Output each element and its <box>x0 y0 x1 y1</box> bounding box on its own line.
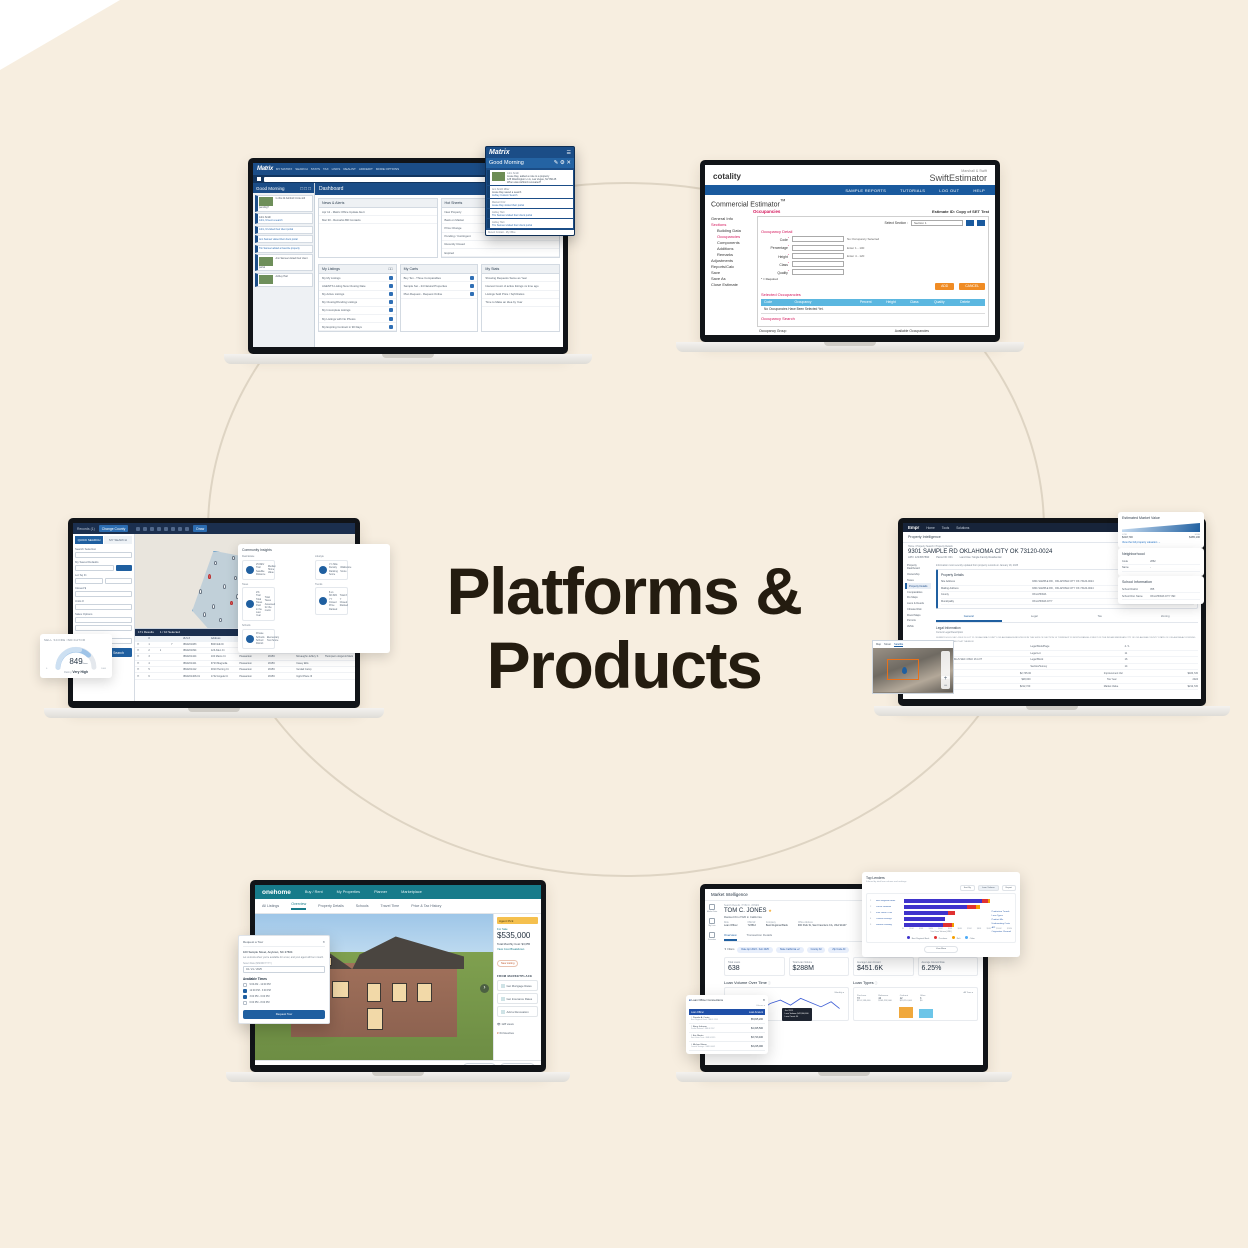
form-buttons: ADD CANCEL <box>761 283 985 290</box>
chart-tooltip: Jun 2024 Loan Volume: $42,300,000 Loan C… <box>782 1008 812 1021</box>
required-note: * = Required <box>761 277 985 281</box>
go-button[interactable] <box>116 565 132 571</box>
popup-header-text: Good Morning <box>489 160 524 166</box>
card-title: My Stats <box>485 267 499 271</box>
cotality-header: cotality Marshall & Swift SwiftEstimator <box>705 165 995 185</box>
matrix-logo: Matrix <box>257 166 273 172</box>
insight-card[interactable]: Private SchoolsSchool District Elementar… <box>242 629 275 649</box>
renovation-icon <box>501 1010 505 1014</box>
info-icon[interactable]: ⓘ <box>768 982 771 985</box>
corner-decoration <box>0 0 120 70</box>
tab-tax[interactable]: Tax <box>1067 612 1133 622</box>
insight-card[interactable]: V 1 MileDensity Ranking Score Walkscore … <box>315 560 348 580</box>
field-label: Height <box>778 255 788 259</box>
map-toolbar[interactable] <box>136 527 189 531</box>
tab-property-details[interactable]: Property Details <box>318 904 344 908</box>
col-quality: Quality <box>934 300 960 304</box>
matrix-nav-item[interactable]: MY MATRIX <box>276 167 292 171</box>
matrix-nav-item[interactable]: LINKS <box>332 167 341 171</box>
loan-types-chart[interactable]: All Time ▾ Purchase73$151,133,000 Refina… <box>853 987 978 1021</box>
insight-group: Taxes <box>242 583 312 586</box>
top-lenders-title: Top Lenders <box>866 876 1016 880</box>
modal-titlebar: Request a Tour ✕ <box>243 940 325 947</box>
class-select[interactable] <box>792 261 844 267</box>
card-row[interactable]: Expired <box>442 249 560 257</box>
legal-title: Legal Information <box>936 626 1198 630</box>
checkbox[interactable] <box>243 1001 247 1005</box>
card-row[interactable]: My Incomplete Listings <box>319 307 396 315</box>
card-row[interactable]: AGENTS Listing New Closing Date <box>319 282 396 290</box>
matrix-panel-header: Good Morning □ □ □ <box>253 183 314 193</box>
search-selection-select[interactable] <box>75 552 132 558</box>
stat-avg-amount: Average Loan Amount$451.6K <box>853 957 914 976</box>
lo-row[interactable]: 4 Michael StoneCoastal Savings - NMLS 44… <box>689 1042 765 1051</box>
sort-by-select[interactable]: Loan Volume <box>978 885 999 891</box>
tab-general[interactable]: General <box>936 612 1002 622</box>
time-option[interactable]: 3:00 PM - 6:00 PM <box>243 995 325 999</box>
nav-marketplace[interactable]: Marketplace <box>401 890 422 894</box>
field-label: Quality <box>777 271 788 275</box>
tab-all-listings[interactable]: All Listings <box>262 904 279 908</box>
view-virtual-tour-button[interactable]: View Virtual Tour <box>463 1063 496 1065</box>
tab-my-search[interactable]: MY SEARCH <box>104 536 132 544</box>
card-title: Estimated Market Value <box>1122 516 1200 520</box>
matrix-message[interactable]: Tim Samuel added a Favorite property <box>255 245 313 253</box>
height-input[interactable] <box>792 253 844 259</box>
results-count: 171 Results <box>138 630 154 634</box>
request-tour-modal[interactable]: Request a Tour ✕ 100 Sample Street, Anyt… <box>238 935 330 1024</box>
propintel-page-title: Property Intelligence <box>908 535 941 539</box>
rail-favorites[interactable]: Favorites <box>705 932 719 941</box>
stat-cards: Total Loans638 Total Loan Volume$288M Av… <box>724 957 978 976</box>
tab-overview[interactable]: Overview <box>291 902 306 910</box>
card-title: News & Alerts <box>322 201 344 205</box>
field-row-percentage: Percentage* Enter 1 - 100 <box>761 244 985 250</box>
propintel-side-cards: Estimated Market Value LOW$218,700 HIGH$… <box>1118 512 1204 604</box>
laptop-base <box>874 706 1230 716</box>
insight-card[interactable]: $ vs 38.49%YY Closed Price Ranked Total … <box>315 587 348 614</box>
view-all-photos-button[interactable]: View All 38 Photos <box>500 1063 535 1065</box>
matrix-row-2: My Listings□□ My My Listings AGENTS List… <box>315 261 563 335</box>
cost-breakdown-link[interactable]: View Cost Breakdown <box>497 947 538 951</box>
school-name-row: School Dist. NameOKLAHOMA CITY ISD <box>1122 593 1200 600</box>
matrix-panel-title: Good Morning <box>256 186 285 191</box>
matrix-message[interactable]: Ann Samuel visited their client portal <box>255 235 313 243</box>
card-title: Hot Sheets <box>445 201 463 205</box>
panel-title: Loan Volume Over Time ⓘ <box>724 980 849 985</box>
section-next-button[interactable] <box>977 220 985 226</box>
checkbox[interactable] <box>243 989 247 993</box>
sidebar-item-avms[interactable]: AVMs <box>905 624 931 630</box>
time-option[interactable]: 9:00 AM - 12:00 PM <box>243 983 325 987</box>
tab-satellite[interactable]: Satellite <box>894 643 903 647</box>
onehome-sidebar: Agent Pick For Sale $535,000 Total Month… <box>493 914 541 1060</box>
nav-tutorials[interactable]: TUTORIALS <box>900 188 925 193</box>
marketintel-title: Market Intelligence <box>711 892 748 897</box>
lot-sqft-max[interactable] <box>105 578 133 584</box>
available-times-title: Available Times <box>243 977 325 981</box>
section-prev-button[interactable] <box>966 220 974 226</box>
occupancy-search-label: Occupancy Search <box>761 316 985 321</box>
popup-footer: Recent Contact - My Office <box>486 230 574 235</box>
popup-item-text: Jesse Day visited their portal <box>492 204 524 207</box>
field-row-height: Height* Enter 4 - 120 <box>761 253 985 259</box>
laptop-base <box>44 708 384 718</box>
chart-menu[interactable]: All Time ▾ <box>964 991 973 994</box>
card-row[interactable]: Apr 12 - Matrix Office Update Alert <box>319 208 437 216</box>
loan-officer-connections-panel: ■ Loan Officer Connections ✕ Volume ▾ Lo… <box>686 995 768 1054</box>
measure-icon[interactable] <box>178 527 182 531</box>
quality-select[interactable] <box>792 269 844 275</box>
tab-price-tax-history[interactable]: Price & Tax History <box>411 904 441 908</box>
popup-item[interactable]: Ashley Hart Tim Samuel visited their cli… <box>487 219 573 228</box>
matrix-card-mylistings: My Listings□□ My My Listings AGENTS List… <box>318 264 397 332</box>
agent-pick-badge: Agent Pick <box>497 917 538 924</box>
tab-change-county[interactable]: Change County <box>99 525 129 532</box>
monthly-cost: Total Monthly Cost: $3,055 <box>497 942 538 946</box>
stat-avg-rate: Average Interest Rate6.25% <box>918 957 979 976</box>
detail-tabs[interactable]: General Legal Tax Zoning <box>936 612 1198 623</box>
matrix-nav-item[interactable]: TAX <box>323 167 329 171</box>
tab-schools[interactable]: Schools <box>356 904 369 908</box>
add-button[interactable]: ADD <box>935 283 954 290</box>
code-input[interactable] <box>792 236 844 242</box>
info-icon[interactable]: ⓘ <box>875 982 878 985</box>
emv-high-value: $285,100 <box>1189 536 1200 539</box>
modal-body-text: Let us know when you're available for a … <box>243 956 325 960</box>
sell-score-card: SELL SCORE INDICATOR 849 0 1000 Rating V… <box>40 634 112 678</box>
matrix-nav-item[interactable]: REALIST <box>343 167 356 171</box>
cotality-sidebar[interactable]: General Info Sections Building Data Occu… <box>711 216 753 327</box>
col-mls: MLS # <box>183 637 211 640</box>
cotality-screen: cotality Marshall & Swift SwiftEstimator… <box>705 165 995 335</box>
sales-options-select[interactable] <box>75 617 132 623</box>
onehome-topbar: onehome Buy / Rent My Properties Planner… <box>255 885 541 899</box>
draw-button[interactable]: Draw <box>193 525 207 532</box>
onehome-tabs[interactable]: All Listings Overview Property Details S… <box>255 899 541 914</box>
top-lenders-chart[interactable]: 1 Best Regional Bank 2 Pacific National … <box>866 893 1016 943</box>
matrix-notification-popup[interactable]: Matrix ☰ Good Morning ✎ ⚙ ✕ John Smith J… <box>485 146 575 236</box>
matrix-nav[interactable]: MY MATRIX SEARCH STATS TAX LINKS REALIST… <box>276 167 399 171</box>
card-row[interactable]: Plan Request - Request Online <box>401 291 478 299</box>
street-view-tabs[interactable]: Map Street Satellite <box>873 641 953 648</box>
popup-item[interactable]: John Smith Jesse Day, added a note to a … <box>487 170 573 185</box>
sidebar-item-dashboard[interactable]: Property Dashboard <box>905 563 931 572</box>
mapsearch-topbar: Records (1) Change County Draw <box>73 523 355 534</box>
help-icon[interactable] <box>157 527 161 531</box>
insights-grid: Real Estate 25 REV TrailSatellite Distan… <box>242 555 386 649</box>
col-percent: Percent <box>860 300 886 304</box>
school-icon <box>246 635 254 643</box>
aerial-image[interactable]: +− <box>873 648 953 692</box>
select-icon[interactable] <box>136 527 140 531</box>
matrix-message-text: Tim Samuel added a Favorite property <box>259 247 310 250</box>
card-row[interactable]: My My Listings <box>319 274 396 282</box>
filter-label: My Saved Defaults <box>75 560 132 564</box>
lender-row[interactable]: 1 Best Regional Bank <box>870 899 1012 903</box>
thumbnail-image <box>259 275 273 284</box>
link-origination-channel[interactable]: Origination Channel <box>992 930 1011 934</box>
legal-subtitle: Current Legal Description <box>936 631 1198 634</box>
community-insights-card: Community Insights Real Estate 25 REV Tr… <box>238 544 390 653</box>
laptop-cotality: cotality Marshall & Swift SwiftEstimator… <box>700 160 1000 352</box>
tab-legal[interactable]: Legal <box>1002 612 1068 622</box>
tab-travel-time[interactable]: Travel Time <box>381 904 400 908</box>
school-district-row: School District055 <box>1122 587 1200 594</box>
new-listing-badge: New Listing <box>497 960 518 967</box>
view-more-button[interactable]: View More <box>924 946 958 953</box>
units-input[interactable] <box>75 604 132 610</box>
card-controls[interactable]: □□ <box>388 267 392 271</box>
rail-my-lists[interactable]: My Lists <box>705 918 719 927</box>
tax-row: Land Value$28,000Tax Year2024 <box>936 677 1198 684</box>
saved-defaults-select[interactable] <box>75 565 114 571</box>
marketplace-item-mortgage[interactable]: Get Mortgage Rates <box>497 980 538 991</box>
sidebar-close-estimate[interactable]: Close Estimate <box>711 282 753 288</box>
loan-types-legend: Purchase73$151,133,000 Refinance44$105,2… <box>857 995 974 1002</box>
tab-zoning[interactable]: Zoning <box>1133 612 1199 622</box>
select-section-dropdown[interactable]: Section 1 <box>911 220 963 226</box>
legal-row: Section/Survey14 <box>936 664 1198 671</box>
section-label: Occupancies <box>753 209 780 214</box>
nav-buy-rent[interactable]: Buy / Rent <box>305 890 323 894</box>
draw-icon[interactable] <box>143 527 147 531</box>
propintel-logo: Empr <box>908 525 919 530</box>
card-row[interactable]: Mar 30 - Remarks Bill Contacts <box>319 216 437 224</box>
filter-tabs[interactable]: QUICK SEARCH MY SEARCH <box>75 536 132 544</box>
gauge-min: 0 <box>46 668 47 670</box>
nav-logout[interactable]: LOG OUT <box>939 188 959 193</box>
occupancy-table-empty: No Occupancies Have Been Selected Yet. <box>761 306 985 314</box>
popup-item-link[interactable]: Ashley Custom Search <box>492 194 521 197</box>
nav-planner[interactable]: Planner <box>374 890 387 894</box>
nav-tools[interactable]: Tools <box>942 526 949 530</box>
matrix-message[interactable]: Is this 22 Ashford Circle still pending? <box>255 195 313 212</box>
checkbox[interactable] <box>243 983 247 987</box>
chip-date[interactable]: Date Apr 2023 - Feb 2025 <box>737 947 773 953</box>
legal-row: THE SURREY HILLS SEC 4 BLK 16 LOTLegal B… <box>936 657 1198 664</box>
lo-sort-control[interactable]: Volume ▾ <box>689 1004 765 1007</box>
tax-row: Assessed Value$212,720Market Value$212,7… <box>936 684 1198 691</box>
meta-parcel: Parcel ID: 001 <box>936 556 952 559</box>
time-option[interactable]: 12:00 PM - 3:00 PM <box>243 989 325 993</box>
star-icon[interactable]: ★ <box>768 908 772 913</box>
nb-name-row: Name- <box>1122 565 1200 572</box>
occupancy-group-label: Occupancy Group <box>759 329 786 333</box>
popup-item-text: Tim Samuel visited their client portal <box>492 224 532 227</box>
select-section-row: Select Section : Section 1 <box>761 220 985 226</box>
matrix-nav-item[interactable]: MORE OPTIONS <box>376 167 399 171</box>
card-row[interactable]: Listings Sold Price / Sqft Ratios <box>482 291 559 299</box>
lot-sqft-min[interactable] <box>75 578 103 584</box>
chart-menu[interactable]: Monthly ▾ <box>835 991 844 994</box>
sell-score-gauge: 849 0 1000 <box>44 644 108 670</box>
cotality-footer: Occupancy Group Available Occupancies <box>705 327 995 335</box>
popup-item[interactable]: Ann Smith Miller Jesse Day saved a searc… <box>487 186 573 198</box>
meta-apn: APN: 1234567890 <box>908 556 929 559</box>
extra-filter-1[interactable] <box>75 625 132 631</box>
filter-label: Sales Options <box>75 612 132 616</box>
laptop-base <box>226 1072 570 1082</box>
matrix-panel-controls[interactable]: □ □ □ <box>300 186 311 191</box>
legal-row: SubdivisionLegal Book/Page4 / 1 <box>936 644 1198 651</box>
tab-street[interactable]: Street <box>884 643 891 647</box>
close-icon[interactable]: ✕ <box>763 998 765 1002</box>
card-row[interactable]: Interest Count of active listings vs tim… <box>482 282 559 290</box>
cotality-product: Marshall & Swift SwiftEstimator <box>929 169 987 183</box>
insight-group: Lifestyle <box>315 555 385 558</box>
emv-range-values: LOW$218,700 HIGH$285,100 <box>1122 534 1200 539</box>
estimate-id: Estimate ID: Copy of SET Test <box>932 209 989 214</box>
nav-home[interactable]: Home <box>926 526 935 530</box>
loan-types-bars <box>854 1006 977 1018</box>
thumbnail-image <box>259 197 273 206</box>
card-row[interactable]: Recently Closed <box>442 241 560 249</box>
matrix-nav-item[interactable]: SEARCH <box>295 167 308 171</box>
tab-transaction-details[interactable]: Transaction Details <box>747 931 773 941</box>
lo-row[interactable]: 2 Rony JohnsonPacific National - NMLS 22… <box>689 1024 765 1033</box>
next-photo-button[interactable]: › <box>480 984 489 993</box>
matrix-card-news: News & Alerts Apr 12 - Matrix Office Upd… <box>318 198 438 258</box>
tab-map[interactable]: Map <box>876 643 881 647</box>
search-icon <box>257 177 261 181</box>
school-information-card: School Information School District055 Sc… <box>1118 576 1204 604</box>
marker-icon[interactable] <box>171 527 175 531</box>
mortgage-icon <box>501 984 505 988</box>
rail-market-data[interactable]: Market Data <box>705 904 719 913</box>
field-hint: Enter 1 - 100 <box>847 246 864 250</box>
popup-item-text: Tim Samuel visited their client portal <box>492 214 532 217</box>
available-occupancies-label: Available Occupancies <box>895 329 929 333</box>
chip-zip[interactable]: Zip Code All <box>828 947 849 953</box>
card-row[interactable]: Time to Make an Idea by Year <box>482 299 559 307</box>
lo-row[interactable]: 1 Pamela A. CarterBest Regional Bank - N… <box>689 1015 765 1024</box>
matrix-message[interactable]: John, M visited their client portal <box>255 226 313 234</box>
cotality-nav[interactable]: SAMPLE REPORTS TUTORIALS LOG OUT HELP <box>705 185 995 195</box>
lo-panel-title: ■ Loan Officer Connections ✕ <box>689 998 765 1002</box>
insight-card[interactable]: 25 REV TrailSatellite Distance Median Ho… <box>242 560 275 580</box>
stat-total-loans: Total Loans638 <box>724 957 785 976</box>
card-row[interactable]: Sample Set - 24 Natural Properties <box>401 282 478 290</box>
filter-label: Closed $ <box>75 586 132 590</box>
cotality-main: General Info Sections Building Data Occu… <box>705 216 995 327</box>
cotality-form: Select Section : Section 1 Occupancy Det… <box>757 216 989 327</box>
view-count: 👁 128 views <box>497 1022 538 1026</box>
sell-score-title: SELL SCORE INDICATOR <box>44 638 108 642</box>
checkbox[interactable] <box>243 995 247 999</box>
tab-overview[interactable]: Overview <box>724 931 737 941</box>
lo-row[interactable]: 3 Eric MartinFirst Union Trust - NMLS 33… <box>689 1033 765 1042</box>
export-button[interactable]: Export <box>1002 885 1016 891</box>
col-address: Address <box>211 637 239 640</box>
closed-price-input[interactable] <box>75 591 132 597</box>
request-tour-button[interactable]: Request Tour <box>243 1010 325 1019</box>
cancel-button[interactable]: CANCEL <box>959 283 985 290</box>
tab-quick-search[interactable]: QUICK SEARCH <box>75 536 103 544</box>
card-row[interactable]: Showing Requests Same as Year <box>482 274 559 282</box>
matrix-message[interactable]: John Smith John, M sent a search <box>255 213 313 224</box>
insight-card[interactable]: 2% TrailTotal Taxes Paid in the Last Yea… <box>242 587 275 621</box>
rating-value: Very High <box>72 670 88 674</box>
popup-menu-icon[interactable]: ☰ <box>567 150 571 156</box>
percentage-input[interactable] <box>792 245 844 251</box>
col-amount: Loan Amount <box>749 1011 763 1014</box>
field-label: Code <box>780 238 788 242</box>
nav-solutions[interactable]: Solutions <box>956 526 969 530</box>
matrix-nav-item[interactable]: ADD/EDIT <box>359 167 373 171</box>
card-row[interactable]: My Active Listings <box>319 291 396 299</box>
occupancy-detail-label: Occupancy Detail <box>761 229 985 234</box>
insight-group: Trends <box>315 583 385 586</box>
nav-my-properties[interactable]: My Properties <box>337 890 360 894</box>
date-label: Select Date (MM/DD/YYYY) <box>243 963 325 965</box>
top-lenders-side-links[interactable]: Production Trends Loan Types Product Mix… <box>992 910 1011 935</box>
popup-controls[interactable]: ✎ ⚙ ✕ <box>554 160 571 166</box>
home-icon <box>246 566 254 574</box>
sell-score-value: 849 <box>44 657 108 666</box>
lender-row[interactable]: 2 Pacific National <box>870 905 1012 909</box>
card-title: School Information <box>1122 580 1200 584</box>
field-row-quality: Quality* <box>761 269 985 275</box>
tab-records[interactable]: Records (1) <box>77 527 95 531</box>
matrix-popup-logo: Matrix <box>489 149 510 156</box>
top-lenders-controls[interactable]: Sort By Loan Volume Export <box>866 885 1016 891</box>
gauge-max: 1000 <box>101 668 106 670</box>
cotality-page-title: Commercial Estimator™ <box>705 195 995 209</box>
matrix-message-name: Ashley Hart <box>276 275 288 278</box>
col-occupancy: Occupancy <box>795 300 860 304</box>
chip-state[interactable]: State California +2 <box>776 947 804 953</box>
popup-item[interactable]: Marisol Ortiz Jesse Day visited their po… <box>487 199 573 208</box>
print-icon[interactable] <box>185 527 189 531</box>
layers-icon[interactable] <box>164 527 168 531</box>
filter-label: Lot Sq Ft <box>75 573 132 577</box>
card-row[interactable]: My Closing/Pending Listings <box>319 299 396 307</box>
card-row[interactable]: Buy Ten - Three Comparables <box>401 274 478 282</box>
listing-price: $535,000 <box>497 931 538 940</box>
field-row-code: Code* No Occupancy Selected <box>761 236 985 242</box>
card-row[interactable]: My Expiring Contract in 90 Days <box>319 323 396 331</box>
onehome-logo: onehome <box>262 889 291 896</box>
chip-county[interactable]: County All <box>807 947 826 953</box>
modal-title: Request a Tour <box>243 940 263 944</box>
col-code: Code <box>764 300 795 304</box>
emv-low-value: $218,700 <box>1122 536 1133 539</box>
nav-help[interactable]: HELP <box>973 188 985 193</box>
emv-link[interactable]: View the full property valuation → <box>1122 541 1200 544</box>
matrix-message[interactable]: Ann Samuel visited their client portal <box>255 254 313 271</box>
sort-by-label: Sort By <box>960 885 975 891</box>
date-input[interactable]: 04 / 21 / 2025 <box>243 966 325 973</box>
marketplace-item-renovation[interactable]: Add a Renovation <box>497 1006 538 1017</box>
street-view-widget[interactable]: Map Street Satellite +− <box>872 640 954 694</box>
matrix-nav-item[interactable]: STATS <box>311 167 320 171</box>
time-option[interactable]: 6:00 PM - 8:00 PM <box>243 1001 325 1005</box>
legal-row: BlockLegal Lot11 <box>936 651 1198 658</box>
trash-icon[interactable] <box>150 527 154 531</box>
insurance-icon <box>501 997 505 1001</box>
nav-sample-reports[interactable]: SAMPLE REPORTS <box>845 188 886 193</box>
cotality-subheader: Occupancies Estimate ID: Copy of SET Tes… <box>705 209 995 216</box>
close-icon[interactable]: ✕ <box>322 940 325 944</box>
popup-item[interactable]: Ashley Hart Tim Samuel visited their cli… <box>487 209 573 218</box>
marketplace-item-insurance[interactable]: Get Insurance Rates <box>497 993 538 1004</box>
matrix-card-mystats: My Stats Showing Requests Same as Year I… <box>481 264 560 332</box>
matrix-message[interactable]: Ashley Hart <box>255 273 313 287</box>
card-row[interactable]: My Listings with No Photos <box>319 315 396 323</box>
results-row[interactable]: ☐6 0864201408-011742 Angela CtPleasanton… <box>135 673 355 679</box>
meta-landuse: Land Use: Single Family Residential <box>960 556 1002 559</box>
